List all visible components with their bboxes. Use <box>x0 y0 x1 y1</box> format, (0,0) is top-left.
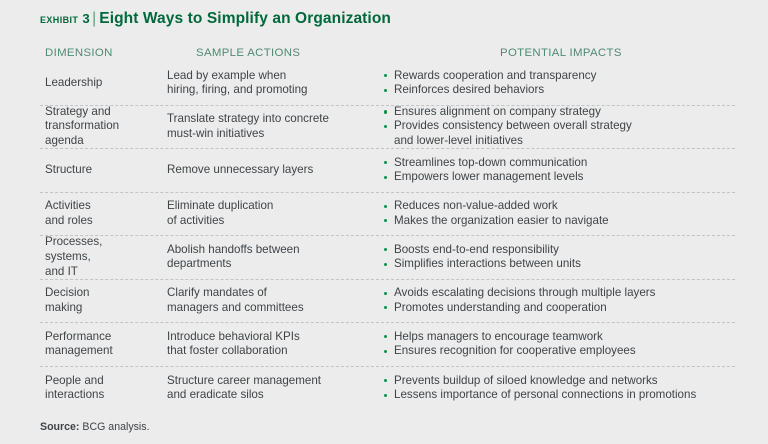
sample-action-line: and eradicate silos <box>167 388 345 403</box>
sample-action-line: departments <box>167 257 345 272</box>
cell-dimension: Leadership <box>40 76 156 91</box>
bullet-dot-icon <box>384 335 387 338</box>
impact-bullet-item: Ensures alignment on company strategy <box>384 105 735 120</box>
dimension-line: agenda <box>45 134 156 149</box>
dimension-line: making <box>45 301 156 316</box>
impact-bullet-list: Helps managers to encourage teamworkEnsu… <box>384 330 735 359</box>
bullet-dot-icon <box>384 110 387 113</box>
source-label: Source: <box>40 421 79 433</box>
bullet-dot-icon <box>384 379 387 382</box>
cell-potential-impacts: Prevents buildup of siloed knowledge and… <box>345 374 735 403</box>
cell-potential-impacts: Streamlines top-down communicationEmpowe… <box>345 156 735 185</box>
dimension-line: Strategy and <box>45 105 156 120</box>
impact-bullet-line: Rewards cooperation and transparency <box>394 69 735 84</box>
table-row: Activitiesand rolesEliminate duplication… <box>40 193 735 237</box>
impact-bullet-item: Reinforces desired behaviors <box>384 83 735 98</box>
dimension-line: Structure <box>45 163 156 178</box>
bullet-dot-icon <box>384 125 387 128</box>
impact-bullet-list: Boosts end-to-end responsibilitySimplifi… <box>384 243 735 272</box>
impact-bullet-line: Helps managers to encourage teamwork <box>394 330 735 345</box>
table-row: Strategy andtransformationagendaTranslat… <box>40 106 735 150</box>
impact-bullet-item: Prevents buildup of siloed knowledge and… <box>384 374 735 389</box>
bullet-dot-icon <box>384 350 387 353</box>
cell-dimension: Decisionmaking <box>40 286 156 315</box>
impact-bullet-item: Helps managers to encourage teamwork <box>384 330 735 345</box>
dimension-line: and IT <box>45 265 156 280</box>
dimension-line: interactions <box>45 388 156 403</box>
sample-action-line: Clarify mandates of <box>167 286 345 301</box>
cell-potential-impacts: Avoids escalating decisions through mult… <box>345 286 735 315</box>
cell-sample-action: Introduce behavioral KPIsthat foster col… <box>156 330 345 359</box>
cell-dimension: People andinteractions <box>40 374 156 403</box>
impact-bullet-list: Reduces non-value-added workMakes the or… <box>384 199 735 228</box>
bullet-dot-icon <box>384 263 387 266</box>
bullet-dot-icon <box>384 161 387 164</box>
source-value: BCG analysis. <box>82 421 149 433</box>
impact-bullet-item: Reduces non-value-added work <box>384 199 735 214</box>
impact-bullet-list: Streamlines top-down communicationEmpowe… <box>384 156 735 185</box>
impact-bullet-line: Provides consistency between overall str… <box>394 119 735 134</box>
cell-sample-action: Remove unnecessary layers <box>156 163 345 178</box>
dimension-line: Activities <box>45 199 156 214</box>
column-header-sample-actions: SAMPLE ACTIONS <box>196 47 300 59</box>
impact-bullet-item: Streamlines top-down communication <box>384 156 735 171</box>
column-header-potential-impacts: POTENTIAL IMPACTS <box>500 47 622 59</box>
impact-bullet-item: Rewards cooperation and transparency <box>384 69 735 84</box>
impact-bullet-item: Empowers lower management levels <box>384 170 735 185</box>
cell-potential-impacts: Helps managers to encourage teamworkEnsu… <box>345 330 735 359</box>
bullet-dot-icon <box>384 306 387 309</box>
dimension-line: Leadership <box>45 76 156 91</box>
table-row: PerformancemanagementIntroduce behaviora… <box>40 323 735 367</box>
exhibit-container: Exhibit 3|Eight Ways to Simplify an Orga… <box>0 0 768 444</box>
impact-bullet-line: Streamlines top-down communication <box>394 156 735 171</box>
dimension-line: management <box>45 344 156 359</box>
impact-bullet-item: Simplifies interactions between units <box>384 257 735 272</box>
sample-action-line: that foster collaboration <box>167 344 345 359</box>
impact-bullet-item: Makes the organization easier to navigat… <box>384 214 735 229</box>
impact-bullet-line: Ensures recognition for cooperative empl… <box>394 344 735 359</box>
sample-action-line: Introduce behavioral KPIs <box>167 330 345 345</box>
cell-dimension: Performancemanagement <box>40 330 156 359</box>
cell-dimension: Processes,systems,and IT <box>40 235 156 279</box>
table-row: People andinteractionsStructure career m… <box>40 367 735 411</box>
impact-bullet-line: Promotes understanding and cooperation <box>394 301 735 316</box>
sample-action-line: managers and committees <box>167 301 345 316</box>
bullet-dot-icon <box>384 74 387 77</box>
impact-bullet-line: Makes the organization easier to navigat… <box>394 214 735 229</box>
column-header-row: DIMENSION SAMPLE ACTIONS POTENTIAL IMPAC… <box>0 47 768 63</box>
exhibit-table: LeadershipLead by example whenhiring, fi… <box>40 62 735 410</box>
sample-action-line: must-win initiatives <box>167 127 345 142</box>
cell-sample-action: Abolish handoffs betweendepartments <box>156 243 345 272</box>
impact-bullet-line: Reinforces desired behaviors <box>394 83 735 98</box>
bullet-dot-icon <box>384 89 387 92</box>
sample-action-line: Eliminate duplication <box>167 199 345 214</box>
cell-dimension: Activitiesand roles <box>40 199 156 228</box>
dimension-line: systems, <box>45 250 156 265</box>
dimension-line: transformation <box>45 119 156 134</box>
sample-action-line: Structure career management <box>167 374 345 389</box>
cell-sample-action: Eliminate duplicationof activities <box>156 199 345 228</box>
cell-sample-action: Translate strategy into concretemust-win… <box>156 112 345 141</box>
title-headline: Eight Ways to Simplify an Organization <box>99 10 391 27</box>
cell-sample-action: Structure career managementand eradicate… <box>156 374 345 403</box>
sample-action-line: Abolish handoffs between <box>167 243 345 258</box>
sample-action-line: Translate strategy into concrete <box>167 112 345 127</box>
impact-bullet-item: Boosts end-to-end responsibility <box>384 243 735 258</box>
cell-dimension: Structure <box>40 163 156 178</box>
impact-bullet-item: Ensures recognition for cooperative empl… <box>384 344 735 359</box>
cell-dimension: Strategy andtransformationagenda <box>40 105 156 149</box>
source-note: Source: BCG analysis. <box>40 421 150 433</box>
table-row: StructureRemove unnecessary layersStream… <box>40 149 735 193</box>
sample-action-line: Remove unnecessary layers <box>167 163 345 178</box>
cell-potential-impacts: Rewards cooperation and transparencyRein… <box>345 69 735 98</box>
bullet-dot-icon <box>384 292 387 295</box>
impact-bullet-line: Simplifies interactions between units <box>394 257 735 272</box>
impact-bullet-line: Prevents buildup of siloed knowledge and… <box>394 374 735 389</box>
table-row: Processes,systems,and ITAbolish handoffs… <box>40 236 735 280</box>
dimension-line: People and <box>45 374 156 389</box>
bullet-dot-icon <box>384 248 387 251</box>
title-separator: | <box>90 10 99 27</box>
impact-bullet-item: Promotes understanding and cooperation <box>384 301 735 316</box>
page-title: Exhibit 3|Eight Ways to Simplify an Orga… <box>40 9 738 29</box>
impact-bullet-line: and lower-level initiatives <box>394 134 735 149</box>
cell-potential-impacts: Ensures alignment on company strategyPro… <box>345 105 735 149</box>
bullet-dot-icon <box>384 205 387 208</box>
bullet-dot-icon <box>384 394 387 397</box>
cell-sample-action: Lead by example whenhiring, firing, and … <box>156 69 345 98</box>
column-header-dimension: DIMENSION <box>45 47 113 59</box>
impact-bullet-line: Reduces non-value-added work <box>394 199 735 214</box>
cell-potential-impacts: Reduces non-value-added workMakes the or… <box>345 199 735 228</box>
impact-bullet-line: Ensures alignment on company strategy <box>394 105 735 120</box>
impact-bullet-item: Lessens importance of personal connectio… <box>384 388 735 403</box>
impact-bullet-list: Rewards cooperation and transparencyRein… <box>384 69 735 98</box>
impact-bullet-list: Prevents buildup of siloed knowledge and… <box>384 374 735 403</box>
cell-potential-impacts: Boosts end-to-end responsibilitySimplifi… <box>345 243 735 272</box>
dimension-line: Processes, <box>45 235 156 250</box>
cell-sample-action: Clarify mandates ofmanagers and committe… <box>156 286 345 315</box>
sample-action-line: Lead by example when <box>167 69 345 84</box>
table-row: DecisionmakingClarify mandates ofmanager… <box>40 280 735 324</box>
sample-action-line: of activities <box>167 214 345 229</box>
table-row: LeadershipLead by example whenhiring, fi… <box>40 62 735 106</box>
exhibit-number-label: Exhibit 3 <box>40 11 90 26</box>
exhibit-title: Exhibit 3|Eight Ways to Simplify an Orga… <box>40 9 738 31</box>
bullet-dot-icon <box>384 176 387 179</box>
impact-bullet-line: Avoids escalating decisions through mult… <box>394 286 735 301</box>
impact-bullet-list: Ensures alignment on company strategyPro… <box>384 105 735 149</box>
impact-bullet-line: Lessens importance of personal connectio… <box>394 388 735 403</box>
impact-bullet-list: Avoids escalating decisions through mult… <box>384 286 735 315</box>
bullet-dot-icon <box>384 219 387 222</box>
impact-bullet-line: Boosts end-to-end responsibility <box>394 243 735 258</box>
impact-bullet-line: Empowers lower management levels <box>394 170 735 185</box>
dimension-line: and roles <box>45 214 156 229</box>
sample-action-line: hiring, firing, and promoting <box>167 83 345 98</box>
impact-bullet-item: Avoids escalating decisions through mult… <box>384 286 735 301</box>
impact-bullet-item: Provides consistency between overall str… <box>384 119 735 148</box>
dimension-line: Decision <box>45 286 156 301</box>
dimension-line: Performance <box>45 330 156 345</box>
